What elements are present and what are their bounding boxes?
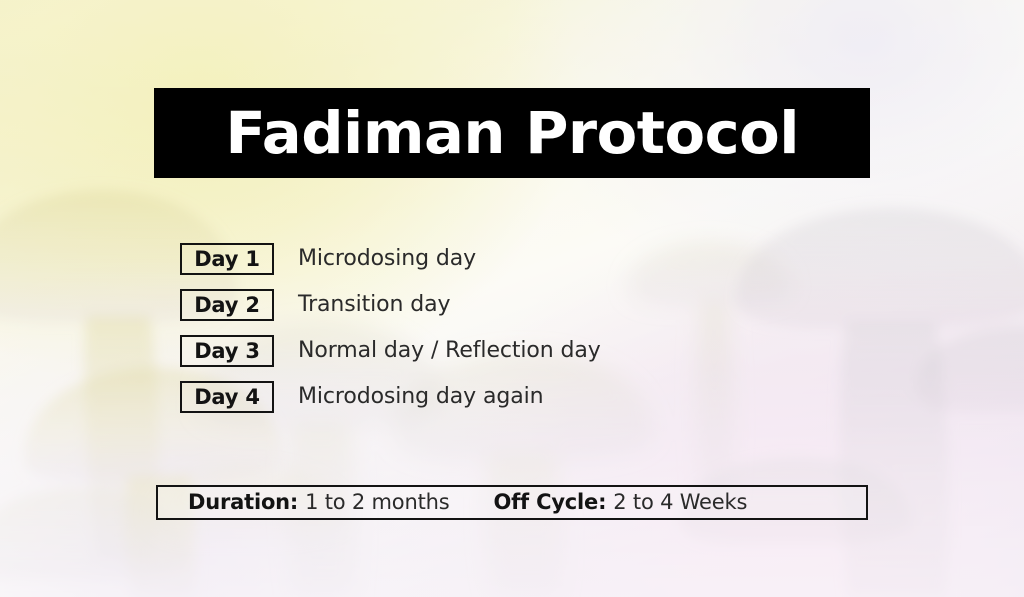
day-description-4: Microdosing day again	[298, 386, 543, 408]
schedule-row-day-3: Day 3 Normal day / Reflection day	[180, 334, 601, 368]
day-description-3: Normal day / Reflection day	[298, 340, 601, 362]
fadiman-protocol-infographic: Fadiman Protocol Day 1 Microdosing day D…	[0, 0, 1024, 597]
cycle-summary-bar: Duration: 1 to 2 months Off Cycle: 2 to …	[156, 485, 868, 520]
schedule-row-day-2: Day 2 Transition day	[180, 288, 601, 322]
day-badge-label: Day 3	[194, 341, 260, 362]
day-description-1: Microdosing day	[298, 248, 476, 270]
day-badge-label: Day 2	[194, 295, 260, 316]
day-badge-4: Day 4	[180, 381, 274, 413]
duration-label: Duration:	[188, 492, 298, 513]
day-badge-3: Day 3	[180, 335, 274, 367]
day-badge-label: Day 4	[194, 387, 260, 408]
day-badge-label: Day 1	[194, 249, 260, 270]
duration-value: 1 to 2 months	[305, 492, 449, 513]
schedule-row-day-1: Day 1 Microdosing day	[180, 242, 601, 276]
page-title: Fadiman Protocol	[225, 104, 799, 162]
protocol-schedule-list: Day 1 Microdosing day Day 2 Transition d…	[180, 242, 601, 426]
schedule-row-day-4: Day 4 Microdosing day again	[180, 380, 601, 414]
off-cycle-value: 2 to 4 Weeks	[613, 492, 747, 513]
duration-group: Duration: 1 to 2 months	[188, 492, 449, 513]
infographic-content: Fadiman Protocol Day 1 Microdosing day D…	[0, 0, 1024, 597]
day-badge-2: Day 2	[180, 289, 274, 321]
day-description-2: Transition day	[298, 294, 450, 316]
off-cycle-group: Off Cycle: 2 to 4 Weeks	[493, 492, 747, 513]
day-badge-1: Day 1	[180, 243, 274, 275]
title-banner: Fadiman Protocol	[154, 88, 870, 178]
off-cycle-label: Off Cycle:	[493, 492, 606, 513]
